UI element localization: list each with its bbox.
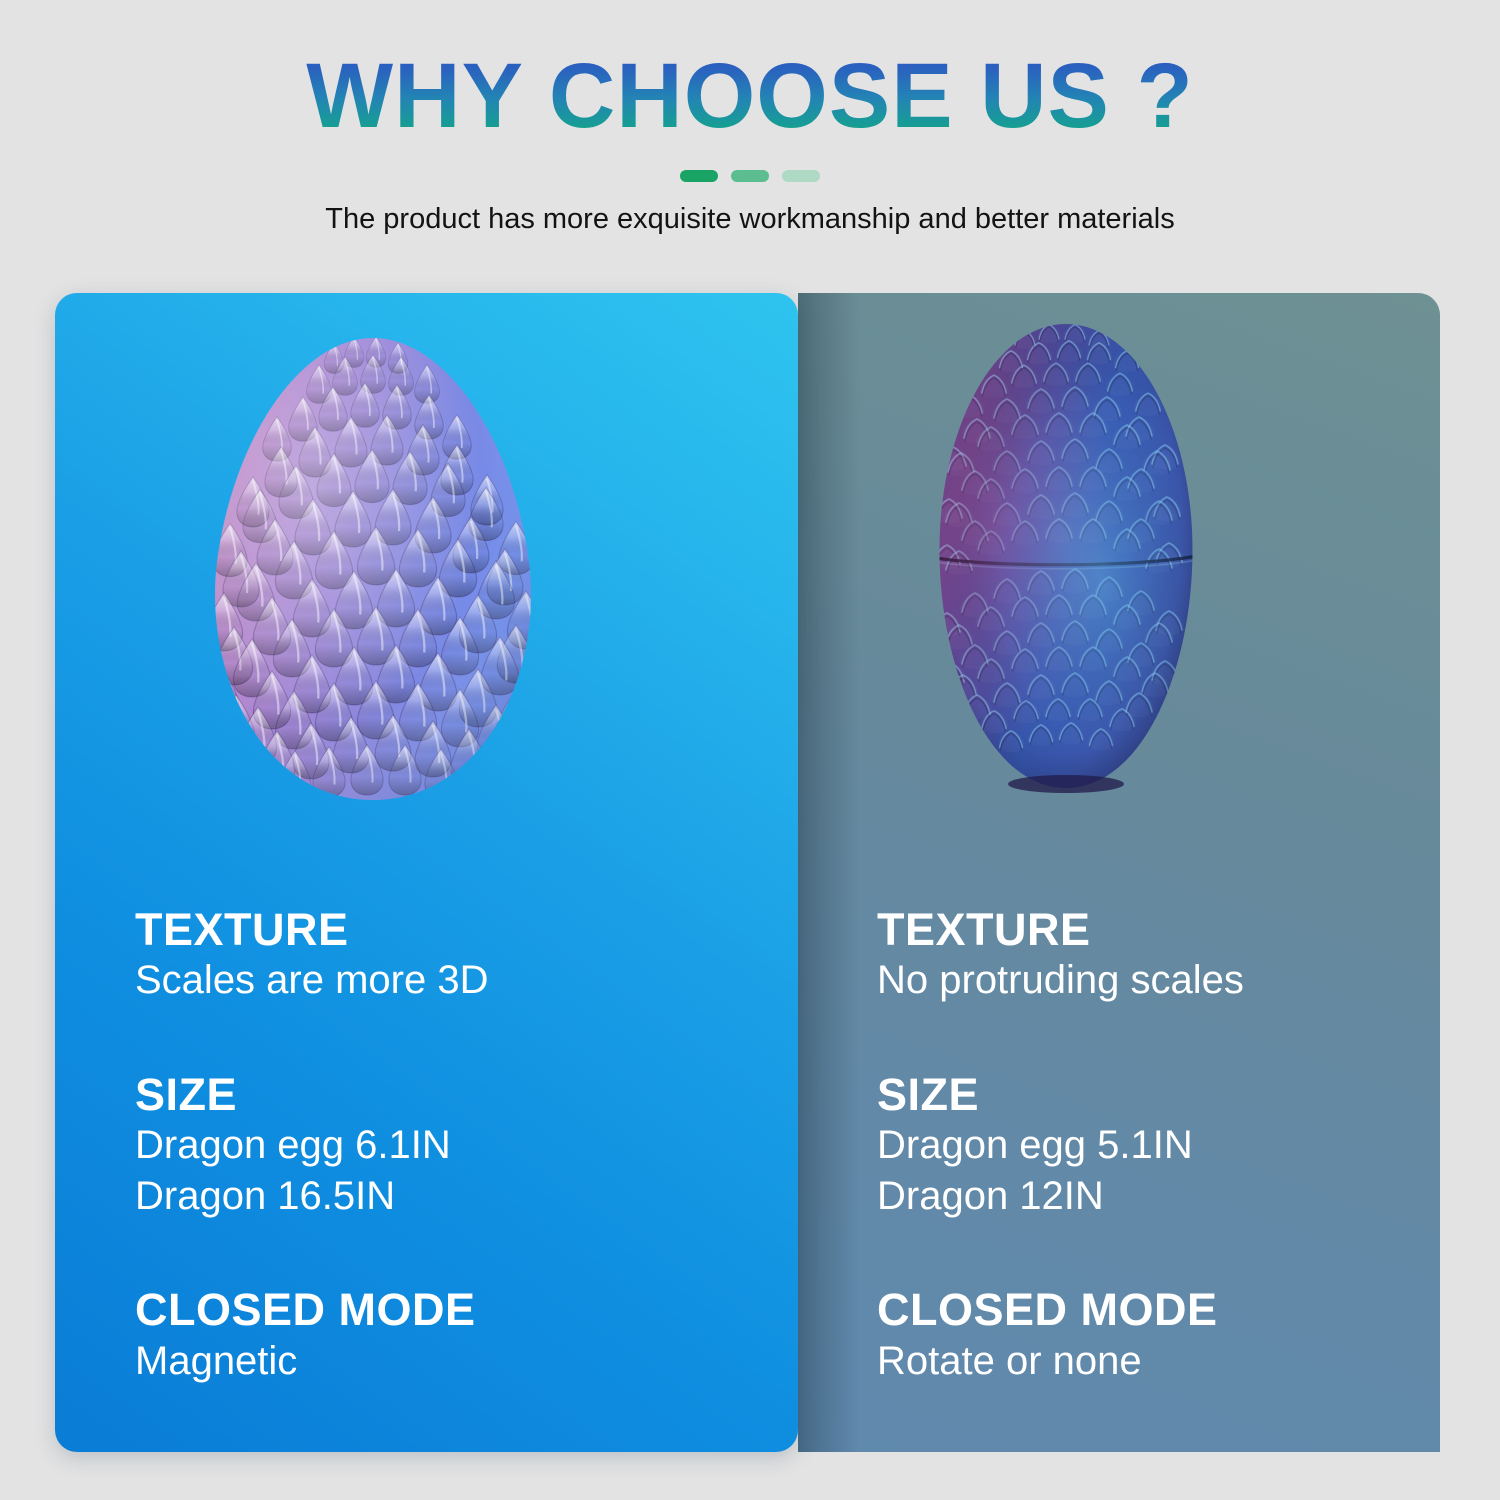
spec-group-size: SIZE Dragon egg 5.1IN Dragon 12IN [877,1070,1422,1223]
spec-label-texture: TEXTURE [877,905,1422,955]
divider-dash-2 [731,170,769,182]
why-choose-us-infographic: WHY CHOOSE US ? The product has more exq… [0,0,1500,1500]
page-subtitle: The product has more exquisite workmansh… [0,203,1500,236]
divider-dashes [0,170,1500,182]
spec-value-texture: No protruding scales [877,955,1422,1006]
dragon-egg-spiky-scales-image [183,330,563,860]
spec-label-closed-mode: CLOSED MODE [877,1285,1422,1335]
spec-list-theirs: TEXTURE No protruding scales SIZE Dragon… [877,905,1422,1387]
spec-value-closed-mode: Rotate or none [877,1336,1422,1387]
spec-label-size: SIZE [135,1070,735,1120]
spec-group-closed-mode: CLOSED MODE Magnetic [135,1285,735,1387]
spec-group-size: SIZE Dragon egg 6.1IN Dragon 16.5IN [135,1070,735,1223]
dragon-egg-flat-scales-image [920,318,1212,838]
spec-value-texture: Scales are more 3D [135,955,735,1006]
spec-list-ours: TEXTURE Scales are more 3D SIZE Dragon e… [135,905,735,1387]
divider-dash-3 [782,170,820,182]
spec-label-size: SIZE [877,1070,1422,1120]
spec-group-closed-mode: CLOSED MODE Rotate or none [877,1285,1422,1387]
spec-value-closed-mode: Magnetic [135,1336,735,1387]
page-title: WHY CHOOSE US ? [0,48,1500,145]
header: WHY CHOOSE US ? The product has more exq… [0,0,1500,280]
spec-value-size-dragon: Dragon 12IN [877,1171,1422,1222]
divider-dash-1 [680,170,718,182]
spec-value-size-egg: Dragon egg 6.1IN [135,1120,735,1171]
spec-label-closed-mode: CLOSED MODE [135,1285,735,1335]
spec-group-texture: TEXTURE No protruding scales [877,905,1422,1007]
spec-group-texture: TEXTURE Scales are more 3D [135,905,735,1007]
spec-label-texture: TEXTURE [135,905,735,955]
spec-value-size-egg: Dragon egg 5.1IN [877,1120,1422,1171]
spec-value-size-dragon: Dragon 16.5IN [135,1171,735,1222]
